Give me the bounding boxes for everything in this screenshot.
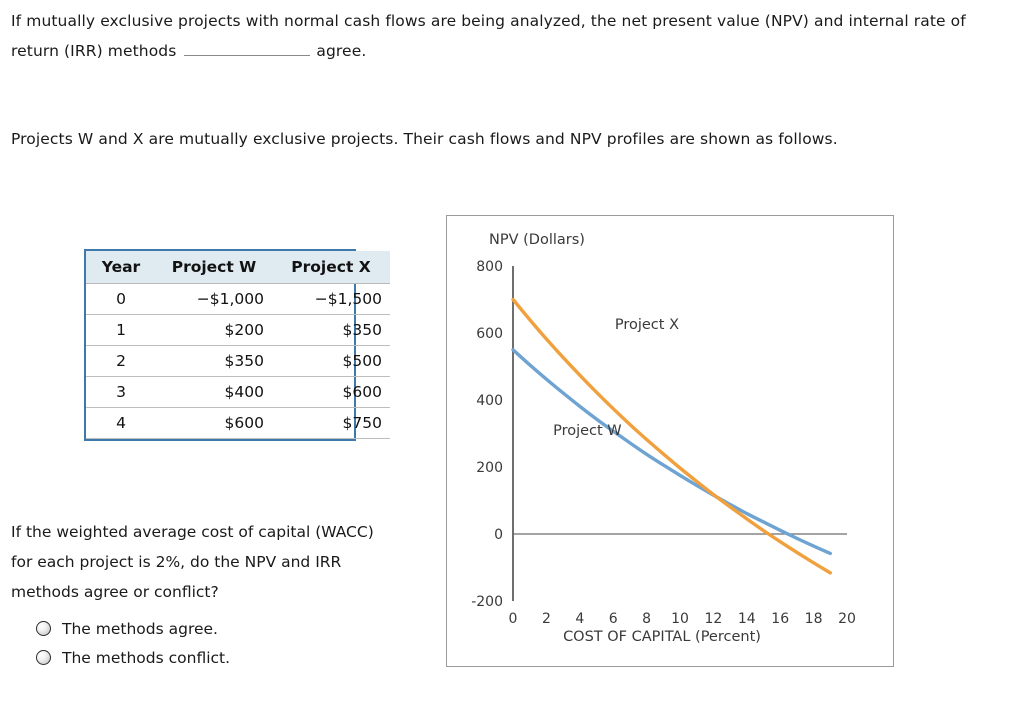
option-label: The methods conflict. [62, 649, 230, 667]
table-row: 2 $350 $500 [86, 346, 390, 377]
cashflow-table-body: 0 −$1,000 −$1,500 1 $200 $350 2 $350 $50… [86, 284, 390, 439]
cell-year: 1 [86, 315, 156, 346]
y-axis-tick-label: 0 [494, 527, 503, 543]
y-axis-tick-label: 400 [476, 393, 503, 409]
cashflow-table: Year Project W Project X 0 −$1,000 −$1,5… [86, 251, 390, 439]
table-row: 1 $200 $350 [86, 315, 390, 346]
cell-year: 0 [86, 284, 156, 315]
npv-profile-chart-panel: NPV (Dollars) 8006004002000-200 02468101… [446, 215, 894, 667]
cell-project-w: $350 [156, 346, 272, 377]
cashflow-table-container: Year Project W Project X 0 −$1,000 −$1,5… [84, 249, 356, 441]
x-axis-tick-label: 16 [771, 611, 789, 627]
option-label: The methods agree. [62, 620, 218, 638]
question-line-2: for each project is 2%, do the NPV and I… [11, 547, 431, 577]
x-axis-tick-label: 18 [805, 611, 823, 627]
x-axis-tick-label: 10 [671, 611, 689, 627]
intro-text-before-blank: If mutually exclusive projects with norm… [11, 12, 966, 60]
cell-project-w: −$1,000 [156, 284, 272, 315]
y-axis-tick-label: 600 [476, 326, 503, 342]
cell-year: 3 [86, 377, 156, 408]
table-header-row: Year Project W Project X [86, 251, 390, 284]
x-axis-title: COST OF CAPITAL (Percent) [563, 629, 761, 645]
y-axis-tick-label: 200 [476, 460, 503, 476]
y-axis-title: NPV (Dollars) [489, 232, 585, 248]
cell-project-x: $750 [272, 408, 390, 439]
cell-project-w: $400 [156, 377, 272, 408]
table-row: 0 −$1,000 −$1,500 [86, 284, 390, 315]
intro-text-after-blank: agree. [316, 42, 366, 60]
x-axis-tick-label: 2 [542, 611, 551, 627]
cell-project-x: $500 [272, 346, 390, 377]
series-annotation-label: Project W [553, 423, 622, 439]
x-axis-tick-label: 6 [609, 611, 618, 627]
answer-blank-field[interactable] [184, 42, 310, 56]
x-axis-tick-label: 4 [575, 611, 584, 627]
cell-project-x: $600 [272, 377, 390, 408]
question-line-1: If the weighted average cost of capital … [11, 517, 431, 547]
cashflow-table-head: Year Project W Project X [86, 251, 390, 284]
x-axis-tick-labels: 02468101214161820 [509, 611, 856, 627]
cell-project-w: $200 [156, 315, 272, 346]
x-axis-tick-label: 20 [838, 611, 856, 627]
series-annotation-label: Project X [615, 317, 679, 333]
radio-button-icon[interactable] [36, 650, 51, 665]
series-inline-labels: Project XProject W [553, 317, 679, 439]
table-row: 3 $400 $600 [86, 377, 390, 408]
question-prompt: If the weighted average cost of capital … [11, 517, 431, 607]
column-header-project-w: Project W [156, 251, 272, 284]
x-axis-tick-label: 14 [738, 611, 756, 627]
option-methods-conflict[interactable]: The methods conflict. [36, 643, 426, 672]
x-axis-tick-label: 12 [704, 611, 722, 627]
cell-project-x: $350 [272, 315, 390, 346]
question-line-3: methods agree or conflict? [11, 577, 431, 607]
radio-button-icon[interactable] [36, 621, 51, 636]
y-axis-tick-label: -200 [471, 594, 503, 610]
cell-year: 2 [86, 346, 156, 377]
y-axis-tick-label: 800 [476, 259, 503, 275]
series-line-project-x [513, 350, 830, 554]
cell-project-x: −$1,500 [272, 284, 390, 315]
answer-options-group: The methods agree. The methods conflict. [36, 614, 426, 672]
cell-year: 4 [86, 408, 156, 439]
option-methods-agree[interactable]: The methods agree. [36, 614, 426, 643]
x-axis-tick-label: 8 [642, 611, 651, 627]
intro-paragraph: If mutually exclusive projects with norm… [11, 6, 1006, 66]
y-axis-tick-labels: 8006004002000-200 [471, 259, 503, 610]
setup-paragraph: Projects W and X are mutually exclusive … [11, 124, 971, 154]
column-header-year: Year [86, 251, 156, 284]
cell-project-w: $600 [156, 408, 272, 439]
column-header-project-x: Project X [272, 251, 390, 284]
table-row: 4 $600 $750 [86, 408, 390, 439]
x-axis-tick-label: 0 [509, 611, 518, 627]
npv-profile-chart: NPV (Dollars) 8006004002000-200 02468101… [447, 216, 892, 665]
